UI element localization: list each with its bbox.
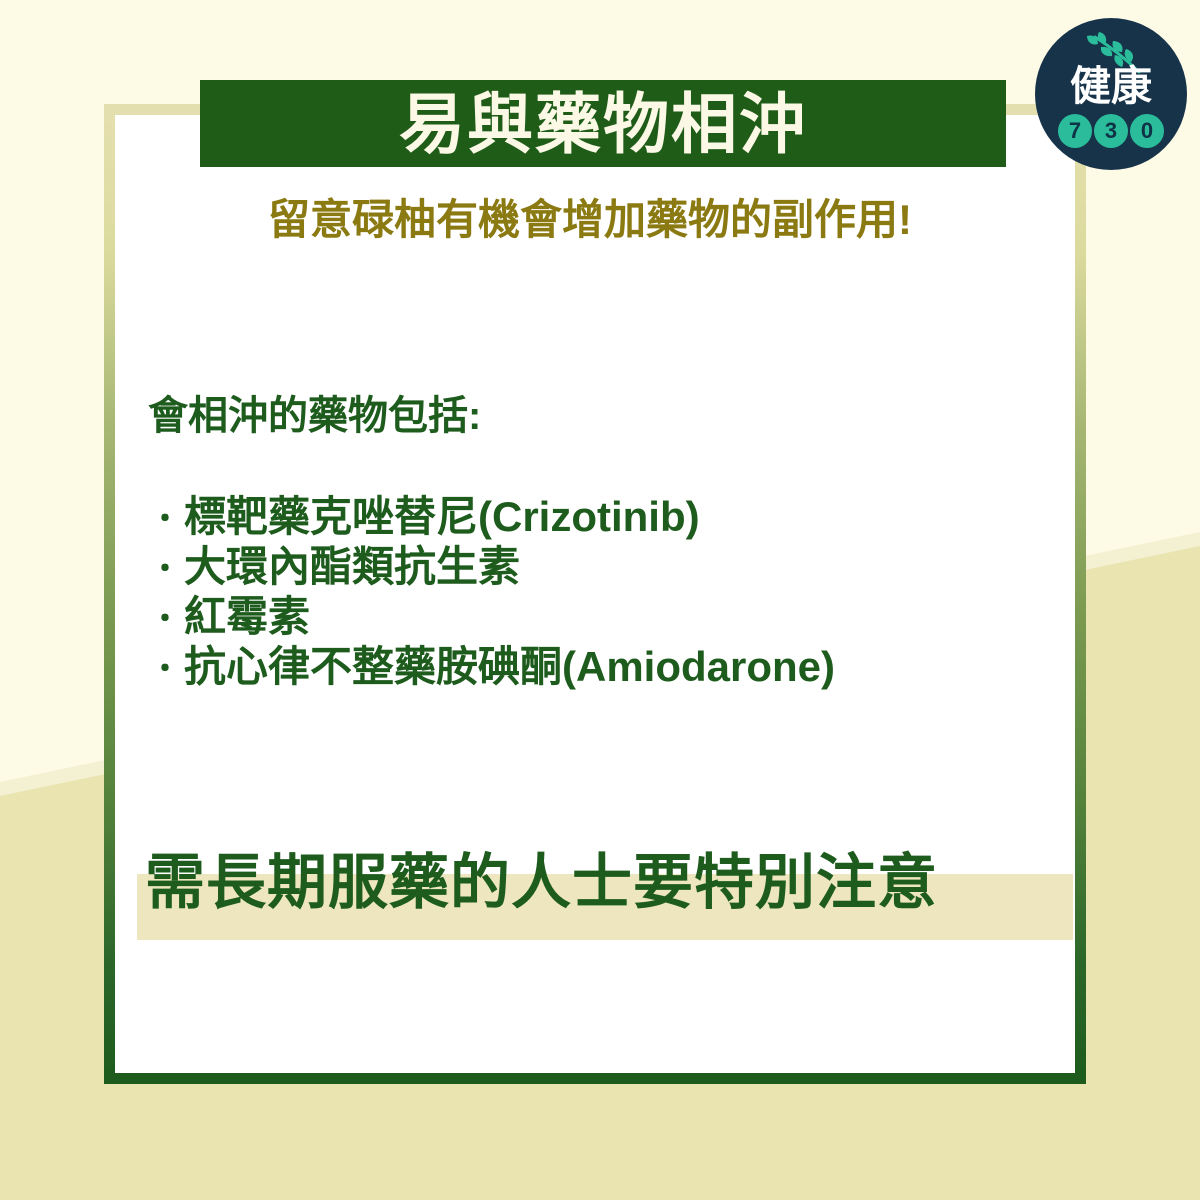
poster-canvas: 易與藥物相沖 留意碌柚有機會增加藥物的副作用! 會相沖的藥物包括: ・ 標靶藥克… <box>0 0 1200 1200</box>
title-banner: 易與藥物相沖 <box>200 80 1006 167</box>
subtitle-text: 留意碌柚有機會增加藥物的副作用! <box>140 196 1040 244</box>
bullet-dot-icon: ・ <box>150 505 184 535</box>
brand-logo: 健康 7 3 0 <box>1035 18 1187 170</box>
list-item-label: 標靶藥克唑替尼(Crizotinib) <box>184 492 700 542</box>
list-item: ・ 抗心律不整藥胺碘酮(Amiodarone) <box>150 642 835 692</box>
logo-digit: 3 <box>1094 114 1128 148</box>
list-item-label: 抗心律不整藥胺碘酮(Amiodarone) <box>184 642 835 692</box>
list-item-label: 紅霉素 <box>184 592 310 642</box>
list-item: ・ 大環內酯類抗生素 <box>150 542 835 592</box>
bullet-dot-icon: ・ <box>150 555 184 585</box>
drug-list: ・ 標靶藥克唑替尼(Crizotinib) ・ 大環內酯類抗生素 ・ 紅霉素 ・… <box>150 492 835 692</box>
bullet-dot-icon: ・ <box>150 605 184 635</box>
logo-digit: 0 <box>1130 114 1164 148</box>
list-item: ・ 紅霉素 <box>150 592 835 642</box>
list-item: ・ 標靶藥克唑替尼(Crizotinib) <box>150 492 835 542</box>
lead-text: 會相沖的藥物包括: <box>148 392 481 440</box>
bullet-dot-icon: ・ <box>150 655 184 685</box>
logo-digit: 7 <box>1058 114 1092 148</box>
page-title: 易與藥物相沖 <box>399 91 807 157</box>
logo-wordmark: 健康 <box>1035 66 1187 107</box>
list-item-label: 大環內酯類抗生素 <box>184 542 520 592</box>
highlight-callout: 需長期服藥的人士要特別注意 <box>115 874 1073 940</box>
logo-digits: 7 3 0 <box>1035 114 1187 148</box>
highlight-text: 需長期服藥的人士要特別注意 <box>145 847 1065 919</box>
